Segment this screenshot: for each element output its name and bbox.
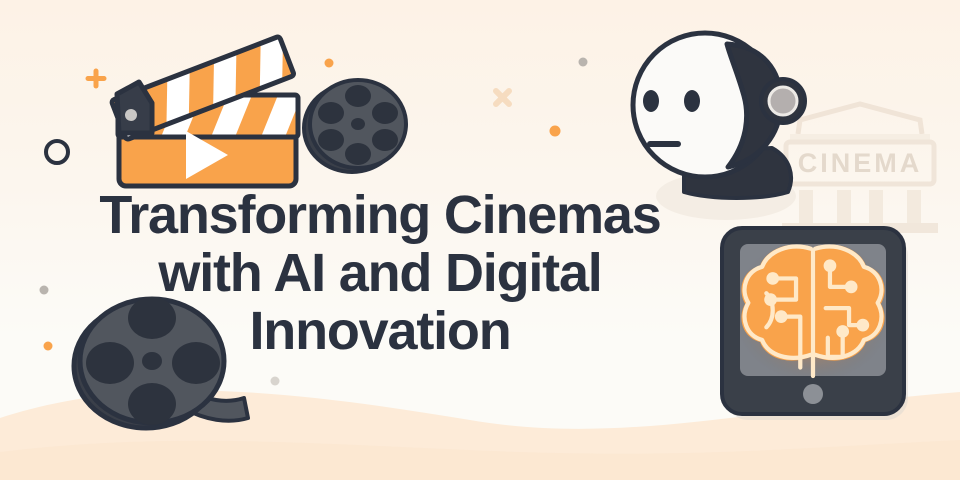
banner-illustration: CINEMA [0,0,960,480]
tablet-brain-icon [0,0,960,480]
tablet-home-button [803,384,823,404]
